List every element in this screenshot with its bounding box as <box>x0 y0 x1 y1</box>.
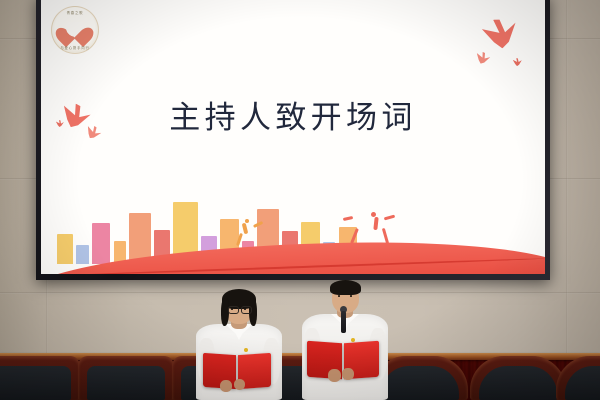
chair-7 <box>556 356 600 400</box>
host-male <box>302 280 388 400</box>
host-male-eye-left <box>338 295 340 297</box>
bird-top-right-tiny-icon <box>513 58 523 67</box>
host-female-glasses-right <box>241 306 252 314</box>
host-female-hand-right <box>234 379 245 390</box>
microphone[interactable] <box>341 311 346 333</box>
chair-back-pad <box>381 366 459 400</box>
host-male-hand-left <box>328 369 341 382</box>
host-male-hair <box>330 280 361 295</box>
host-female <box>196 292 282 400</box>
host-female-eye-left <box>231 308 233 310</box>
chair-back-pad <box>0 366 71 400</box>
bird-top-right-large-icon <box>480 13 522 52</box>
bird-top-right-small-icon <box>475 51 491 65</box>
bird-decorations <box>41 0 545 274</box>
host-female-glasses-left <box>228 306 239 314</box>
photo-scene: 青春之歌 与爱心携手同行 主持人致开场词 <box>0 0 600 400</box>
chair-2 <box>78 356 170 400</box>
host-female-lapel-badge <box>244 348 248 352</box>
host-male-eye-right <box>350 295 352 297</box>
wall-vertical-seam <box>566 0 568 372</box>
wall-seam <box>0 292 600 294</box>
chair-6 <box>470 356 562 400</box>
logo-heart-inner <box>65 22 85 38</box>
slide-title: 主持人致开场词 <box>41 92 545 137</box>
led-screen-display: 青春之歌 与爱心携手同行 主持人致开场词 <box>41 0 545 274</box>
chair-back-pad <box>479 366 557 400</box>
chair-1 <box>0 356 76 400</box>
heart-emblem-logo: 青春之歌 与爱心携手同行 <box>51 6 99 54</box>
host-female-eye-right <box>244 308 246 310</box>
logo-ring-top-text: 青春之歌 <box>52 10 98 15</box>
logo-ring-bottom-text: 与爱心携手同行 <box>52 45 98 50</box>
host-female-hand-left <box>220 380 232 392</box>
chair-back-pad <box>87 366 165 400</box>
host-male-hand-right <box>342 368 354 380</box>
logo-heart-icon <box>62 19 88 42</box>
